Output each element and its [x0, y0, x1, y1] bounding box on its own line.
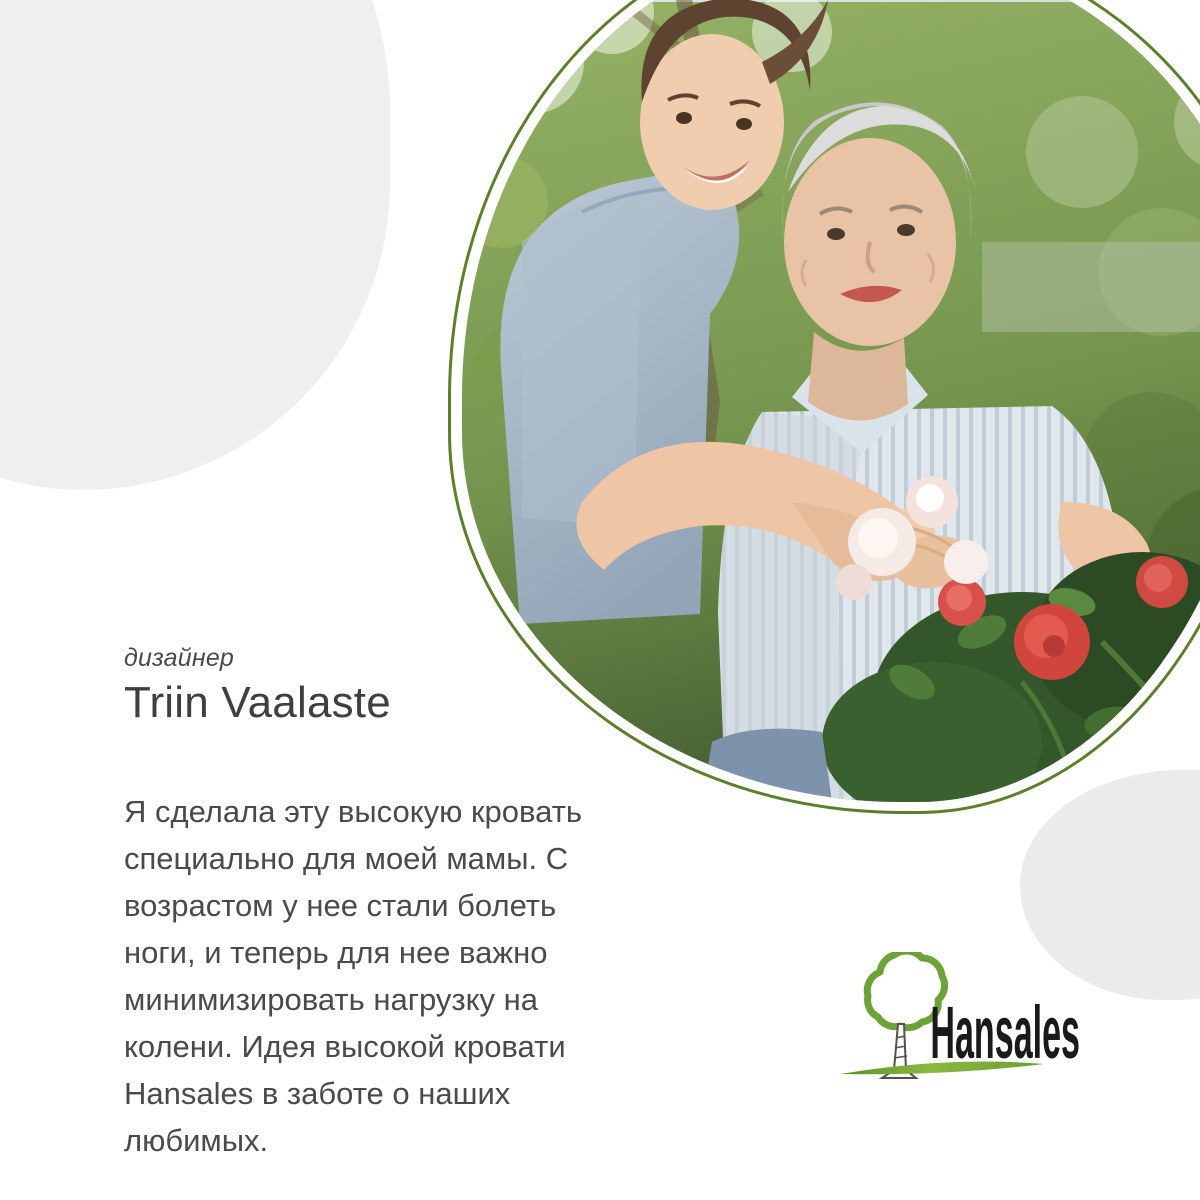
testimonial-quote: Я сделала эту высокую кровать специально… — [124, 788, 624, 1164]
designer-role-label: дизайнер — [124, 644, 234, 673]
decorative-blob-top-left — [0, 0, 390, 490]
logo-wordmark: Hansales — [930, 991, 1080, 1074]
photo-blob — [462, 0, 1200, 802]
logo-svg: Hansales — [838, 952, 1098, 1080]
testimonial-card: дизайнер Triin Vaalaste Я сделала эту вы… — [0, 0, 1200, 1200]
designer-name: Triin Vaalaste — [124, 678, 391, 728]
hansales-logo[interactable]: Hansales — [838, 952, 1098, 1080]
